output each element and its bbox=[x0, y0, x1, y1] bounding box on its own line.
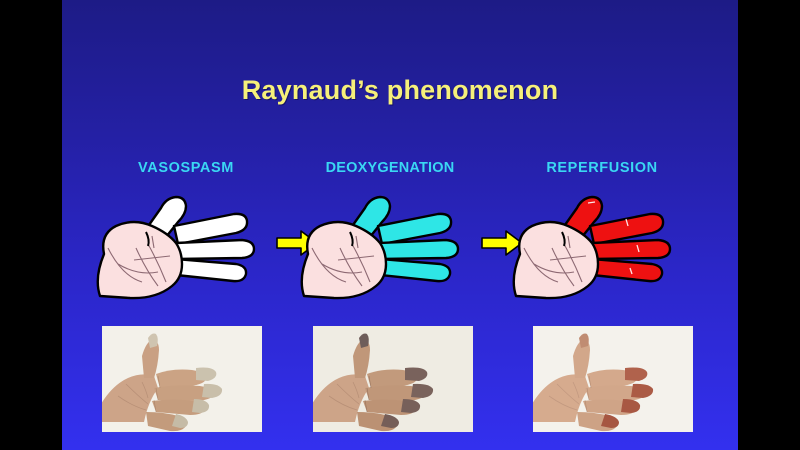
letterbox-right bbox=[738, 0, 800, 450]
slide-root: Raynaud’s phenomenon VASOSPASM bbox=[0, 0, 800, 450]
photo-deoxygenation-hand bbox=[313, 326, 473, 432]
page-title: Raynaud’s phenomenon bbox=[62, 75, 738, 106]
photo-svg-reperfusion bbox=[533, 326, 693, 432]
slide-canvas: Raynaud’s phenomenon VASOSPASM bbox=[62, 0, 738, 450]
hand-diagram-reperfusion bbox=[502, 186, 702, 306]
hand-svg-vasospasm bbox=[86, 186, 286, 306]
photo-svg-vasospasm bbox=[102, 326, 262, 432]
photo-vasospasm-hand bbox=[102, 326, 262, 432]
hand-diagram-deoxygenation bbox=[290, 186, 490, 306]
stage-label-vasospasm: VASOSPASM bbox=[86, 160, 286, 176]
photo-reperfusion-hand bbox=[533, 326, 693, 432]
hand-svg-deoxygenation bbox=[290, 186, 490, 306]
stage-label-deoxygenation: DEOXYGENATION bbox=[290, 160, 490, 176]
letterbox-left bbox=[0, 0, 62, 450]
stage-label-reperfusion: REPERFUSION bbox=[502, 160, 702, 176]
hand-svg-reperfusion bbox=[502, 186, 702, 306]
hand-diagram-vasospasm bbox=[86, 186, 286, 306]
photo-svg-deoxygenation bbox=[313, 326, 473, 432]
